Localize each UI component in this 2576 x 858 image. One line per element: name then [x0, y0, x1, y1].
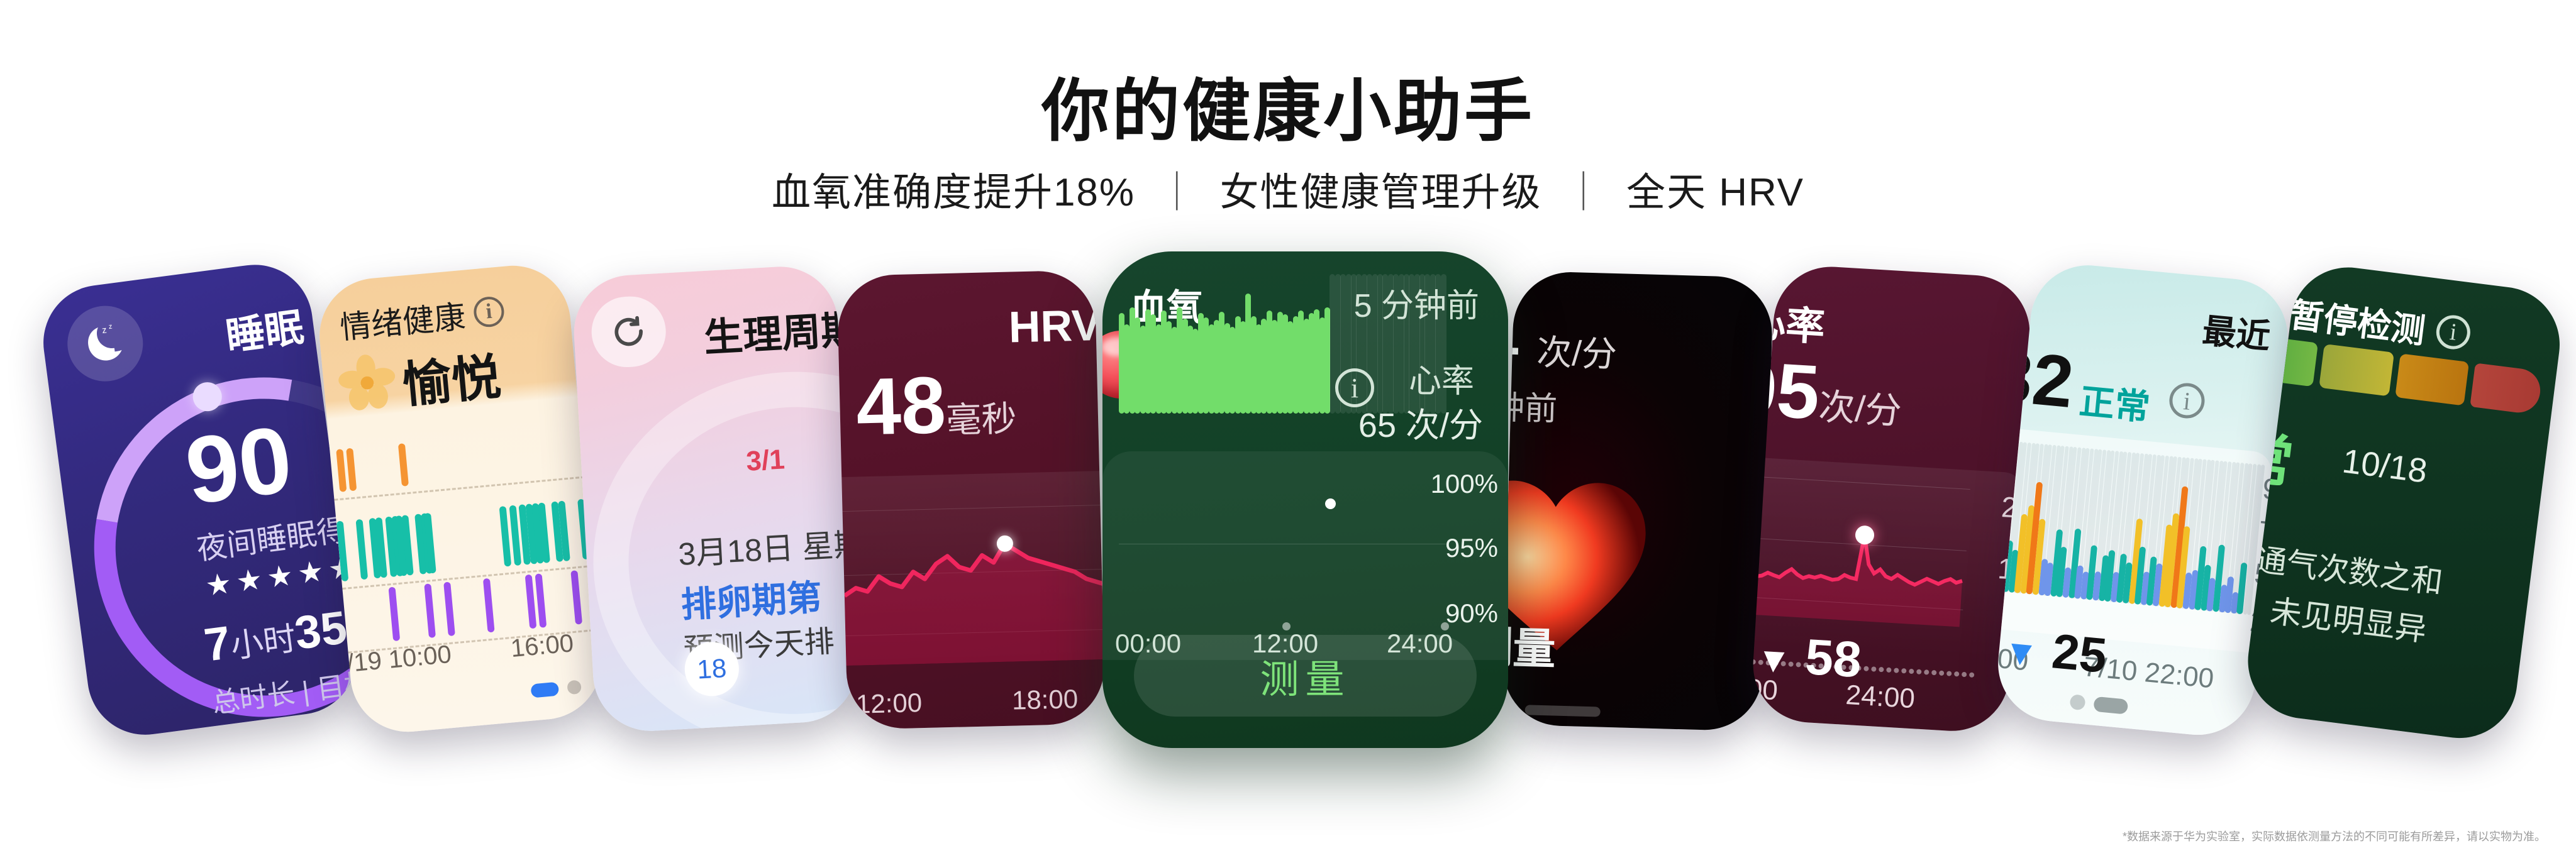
page-dot	[2069, 694, 2085, 710]
sleep-duration-minutes: 35	[292, 601, 350, 659]
card-mood[interactable]: 情绪健康 i 愉悦 9/19 10:00	[314, 261, 606, 737]
cycle-card-title: 生理周期	[702, 297, 860, 363]
spo2-bar	[1409, 274, 1414, 414]
mood-bar	[336, 449, 347, 492]
apnea-scale-segment-severe	[2470, 363, 2543, 415]
cycle-refresh-icon	[590, 295, 668, 369]
recent-chart-panel	[1993, 427, 2273, 653]
page-indicator[interactable]	[530, 679, 582, 698]
card-sleep[interactable]: zz 睡眠 90 夜间睡眠得分 ★★★★★ 7小时35 总时长 | 目标 8	[36, 258, 364, 742]
heart-rate-footer: 5 ▼ 58	[1750, 622, 1863, 689]
info-icon[interactable]: i	[472, 295, 505, 328]
hrv-tick-left: 12:00	[855, 688, 922, 720]
hrv-line	[841, 470, 1106, 666]
mood-bar	[398, 443, 409, 487]
spo2-bar	[1382, 274, 1388, 414]
measure-button[interactable]: 测量	[1134, 635, 1477, 717]
disclaimer-text: *数据来源于华为实验室，实际数据依测量方法的不同可能有所差异，请以实物为准。	[2123, 828, 2546, 844]
spo2-bar	[1230, 327, 1235, 414]
recent-footer-right: 25	[2050, 623, 2109, 683]
page-dot-active	[2093, 696, 2128, 715]
cycle-today-badge: 18	[684, 641, 741, 698]
heart-rate-unit: 次/分	[1818, 387, 1903, 432]
heart-time-ago: 钟前	[1502, 381, 1558, 430]
card-hrv[interactable]: HRV 48毫秒 12:00 18:00 ▲ 74	[836, 270, 1106, 730]
heart-value-row: 4 次/分	[1502, 304, 1618, 382]
recent-footer-arrow-down-icon: ▼	[2002, 631, 2040, 674]
status-badge: 正常	[2077, 373, 2152, 431]
card-heart-measure[interactable]: 4 次/分 钟前 测量	[1502, 271, 1774, 732]
hrv-card-title: HRV	[1008, 300, 1101, 353]
apnea-scale-segment-moderate	[2395, 353, 2469, 405]
mood-gridline	[334, 476, 585, 500]
spo2-bar	[1393, 274, 1399, 414]
mood-tick-left: 9/19 10:00	[331, 641, 452, 679]
info-icon[interactable]: i	[2434, 313, 2472, 351]
spo2-y-label-95: 95%	[1445, 533, 1498, 563]
hrv-value-row: 48毫秒	[855, 363, 1017, 448]
hrv-tick-right: 18:00	[1011, 684, 1078, 716]
spo2-bar	[1367, 274, 1372, 414]
heart-unit: 次/分	[1536, 333, 1618, 375]
recent-card-title: 最近	[2201, 303, 2273, 359]
watch-face-card-row: zz 睡眠 90 夜间睡眠得分 ★★★★★ 7小时35 总时长 | 目标 8 情…	[0, 0, 2576, 858]
mood-bar	[356, 519, 369, 580]
spo2-x-tick-dot	[1282, 622, 1291, 630]
page-dot	[567, 679, 582, 695]
sleep-card-title: 睡眠	[222, 295, 307, 361]
heart-rate-value-row: 95次/分	[1750, 349, 1904, 436]
mood-bar	[346, 448, 357, 492]
spo2-bar	[1272, 320, 1277, 414]
sleep-duration-hour-unit: 小时	[228, 620, 298, 665]
mood-tick-right: 16:00	[509, 629, 575, 663]
card-blood-oxygen[interactable]: 血氧 5 分钟前 96 % i 心率 65 次/分 100% 95% 90% 0…	[1102, 251, 1508, 748]
svg-text:z: z	[108, 322, 113, 331]
hrv-unit: 毫秒	[946, 399, 1018, 440]
hr-footer-right: 58	[1804, 629, 1863, 688]
hrv-value: 48	[855, 360, 947, 452]
spo2-bar	[1177, 307, 1182, 414]
promo-stage: 你的健康小助手 血氧准确度提升18% ｜ 女性健康管理升级 ｜ 全天 HRV z…	[0, 0, 2576, 858]
card-sleep-apnea[interactable]: 吸暂停检测 i 常 10/18 低通气次数之和 时，未见明显异	[2241, 261, 2567, 745]
spo2-bar	[1314, 309, 1319, 414]
spo2-bar	[1150, 314, 1156, 414]
page-indicator[interactable]	[2069, 694, 2128, 715]
spo2-bar	[1298, 311, 1304, 414]
hrv-line-chart	[841, 470, 1106, 666]
mood-bar	[570, 570, 582, 625]
card-heart-rate[interactable]: 心率 95次/分 240 160 80 2:00 24:00 5 ▼ 58	[1750, 263, 2033, 734]
spo2-bar	[1435, 274, 1441, 414]
cycle-today-day: 18	[684, 641, 741, 698]
spo2-bar	[1340, 274, 1346, 414]
page-dot-active	[530, 682, 559, 698]
spo2-bar	[1135, 317, 1140, 414]
heart-measure-label: 测量	[1502, 612, 1557, 677]
mood-bar	[424, 583, 436, 638]
spo2-bar	[1203, 317, 1209, 414]
apnea-date: 10/18	[2340, 441, 2429, 490]
mood-bar	[525, 575, 537, 629]
flower-icon	[335, 351, 399, 415]
spo2-bar	[1219, 312, 1224, 414]
spo2-bar	[1441, 274, 1446, 414]
moon-zzz-icon: zz	[63, 301, 148, 386]
spo2-gridline-95	[1119, 544, 1446, 544]
spo2-y-label-100: 100%	[1431, 469, 1498, 499]
hrv-axis-ticks: 12:00 18:00	[847, 683, 1105, 690]
mood-bar	[535, 573, 547, 628]
cycle-marker-date: 3/1	[745, 444, 786, 477]
card-menstrual-cycle[interactable]: 生理周期 3/1 3月18日 星期 排卵期第 预测今天排 18	[571, 263, 860, 734]
mood-bar-chart	[329, 416, 598, 646]
apnea-scale-segment-mild	[2319, 344, 2394, 396]
sleep-score: 90	[180, 411, 297, 518]
home-indicator	[1525, 705, 1601, 717]
info-icon[interactable]: i	[2168, 382, 2206, 420]
svg-text:z: z	[101, 325, 107, 336]
mood-bar	[482, 578, 494, 633]
spo2-bar	[1245, 294, 1251, 414]
mood-bar	[443, 581, 455, 636]
spo2-y-label-90: 90%	[1445, 598, 1498, 629]
mood-state: 愉悦	[399, 338, 504, 417]
spo2-bar-chart	[1119, 274, 1446, 414]
mood-card-title: 情绪健康	[338, 292, 467, 348]
mood-bar	[388, 586, 400, 641]
